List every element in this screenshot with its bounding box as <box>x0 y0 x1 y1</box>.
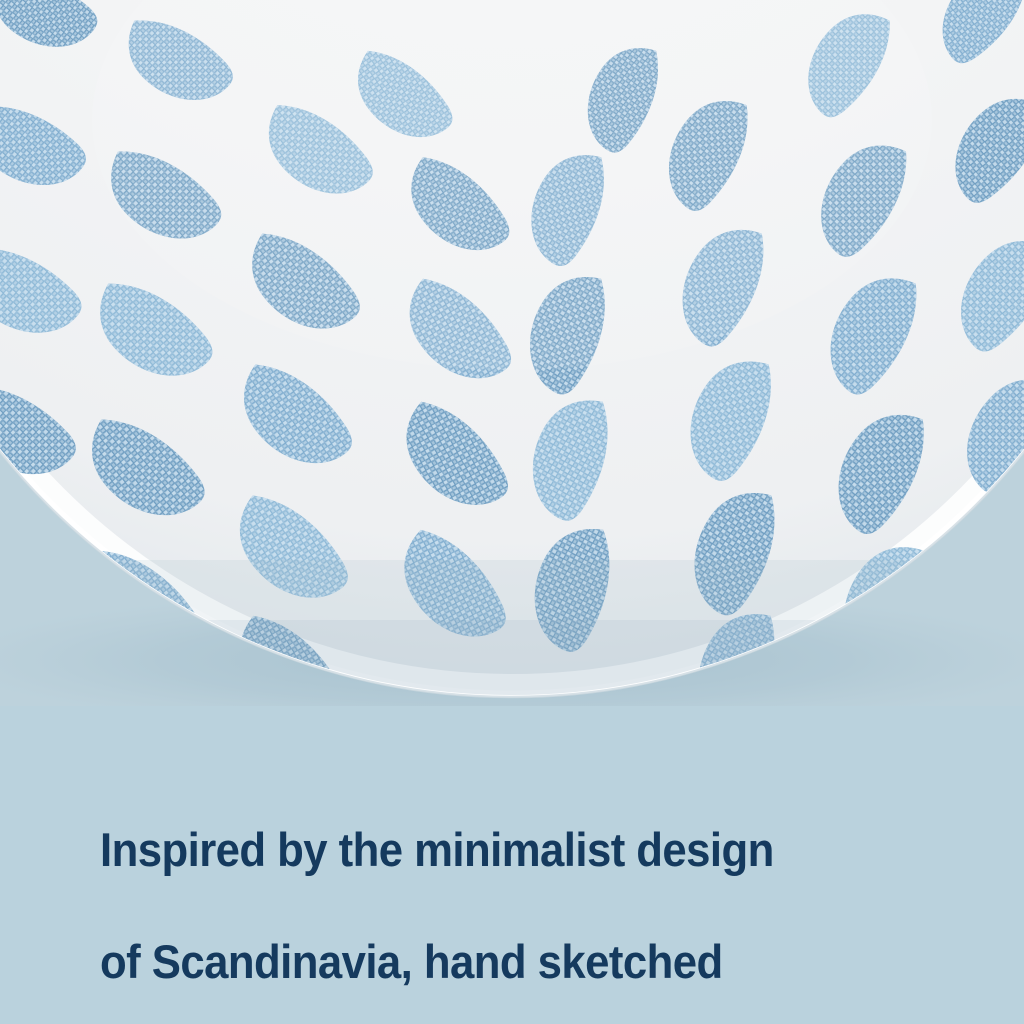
plate-illustration <box>0 0 1024 706</box>
caption-line-2: of Scandinavia, hand sketched <box>100 934 900 990</box>
product-description: Inspired by the minimalist design of Sca… <box>100 766 900 1024</box>
caption-line-1: Inspired by the minimalist design <box>100 822 900 878</box>
plate-photo <box>0 0 1024 706</box>
product-image-card: Inspired by the minimalist design of Sca… <box>0 0 1024 1024</box>
caption-panel: Inspired by the minimalist design of Sca… <box>0 706 1024 1024</box>
